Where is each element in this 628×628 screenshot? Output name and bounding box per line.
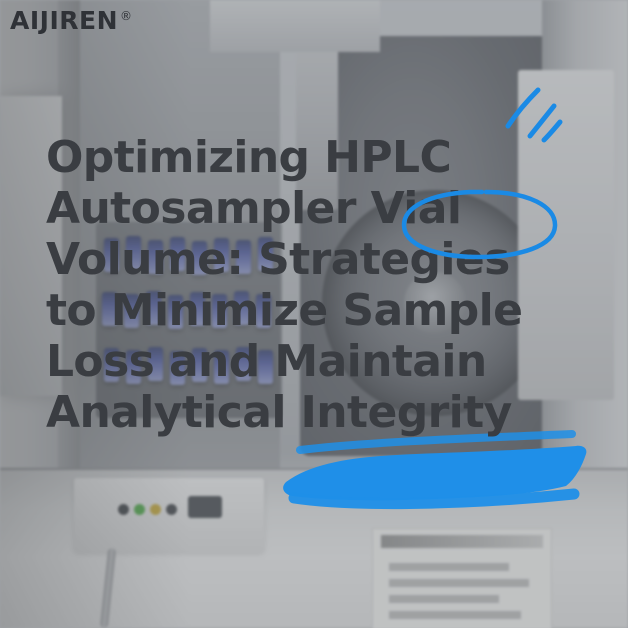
headline-line-2: Autosampler Vial: [46, 183, 592, 234]
headline-line-1: Optimizing HPLC: [46, 132, 592, 183]
headline-line-5: Loss and Maintain: [46, 336, 592, 387]
brand-logo: AIJIREN ®: [10, 8, 132, 33]
headline-line-3: Volume: Strategies: [46, 234, 592, 285]
headline-line-4: to Minimize Sample: [46, 285, 592, 336]
brand-logo-text: AIJIREN: [10, 8, 118, 33]
poster-canvas: AIJIREN ® Optimizing HPLC Autosampler Vi…: [0, 0, 628, 628]
registered-trademark-icon: ®: [120, 9, 132, 23]
headline-line-6: Analytical Integrity: [46, 387, 592, 438]
page-title: Optimizing HPLC Autosampler Vial Volume:…: [46, 132, 592, 438]
